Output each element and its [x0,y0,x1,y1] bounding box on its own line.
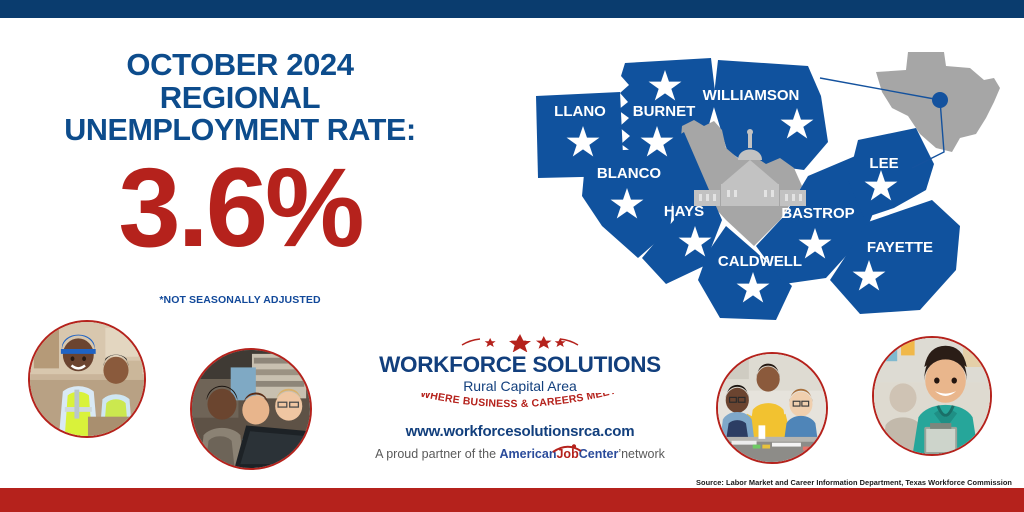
logo-star-arc [370,334,670,352]
bottom-red-bar [0,488,1024,512]
county-label-blanco: BLANCO [597,165,661,182]
county-label-williamson: WILLIAMSON [703,87,800,104]
county-label-burnet: BURNET [633,103,696,120]
photo-computer-training [190,348,312,470]
county-label-lee: LEE [869,155,898,172]
source-attribution: Source: Labor Market and Career Informat… [696,478,1012,487]
county-label-fayette: FAYETTE [867,239,933,256]
headline-line-1: OCTOBER 2024 [20,48,460,81]
partner-center: Center [579,447,619,461]
ajc-swoosh-icon [552,442,582,456]
headline-line-2: REGIONAL [20,81,460,114]
svg-text:WHERE BUSINESS & CAREERS MEET!: WHERE BUSINESS & CAREERS MEET! [405,393,618,410]
page-title: OCTOBER 2024 REGIONAL UNEMPLOYMENT RATE: [20,48,460,147]
county-label-hays: HAYS [664,203,704,220]
partner-network: network [621,447,665,461]
county-label-caldwell: CALDWELL [718,253,802,270]
partner-american: American [500,447,557,461]
logo-subtitle: Rural Capital Area [370,378,670,394]
partner-prefix: A proud partner of the [375,447,499,461]
infographic-page: OCTOBER 2024 REGIONAL UNEMPLOYMENT RATE:… [0,0,1024,512]
region-county-map: LLANO BURNET WILLIAMSON BLANCO HAYS CALD… [508,30,1008,330]
headline-line-3: UNEMPLOYMENT RATE: [20,114,460,147]
logo-tagline: WHERE BUSINESS & CAREERS MEET! [370,393,670,413]
county-label-llano: LLANO [554,103,606,120]
logo-tagline-text: WHERE BUSINESS & CAREERS MEET! [405,393,618,410]
top-navy-bar [0,0,1024,18]
county-label-bastrop: BASTROP [781,205,854,222]
photo-teacher-students [716,352,828,464]
photo-healthcare-worker [872,336,992,456]
seasonal-adjustment-note: *NOT SEASONALLY ADJUSTED [20,294,460,306]
website-url[interactable]: www.workforcesolutionsrca.com [370,423,670,440]
logo-name: WORKFORCE SOLUTIONS [370,353,670,377]
workforce-solutions-logo: WORKFORCE SOLUTIONS Rural Capital Area W… [370,334,670,461]
american-job-center-partner-line: A proud partner of the AmericanJobCenter… [370,447,670,461]
photo-warehouse-worker [28,320,146,438]
unemployment-rate-value: 3.6% [20,152,460,264]
